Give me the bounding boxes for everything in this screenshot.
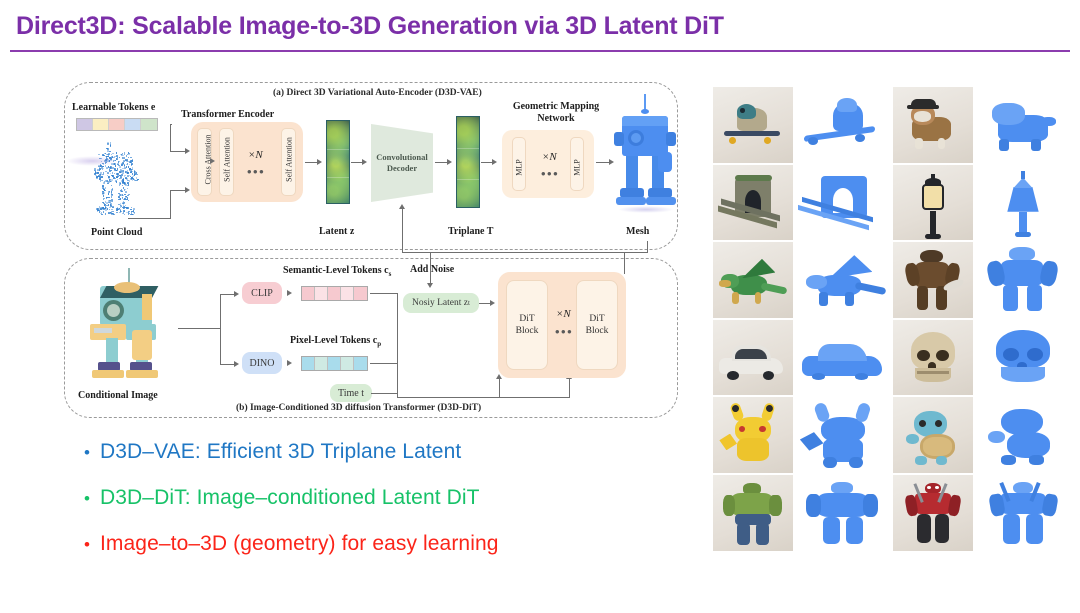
white-sedan-car-mesh: [794, 319, 892, 397]
list-item: • Image–to–3D (geometry) for easy learni…: [84, 532, 684, 556]
gmn-line1: Geometric Mapping Network: [513, 101, 599, 124]
squirtle-figure: [893, 397, 973, 473]
learnable-tokens-label: Learnable Tokens e: [72, 102, 155, 113]
arrow-icon: [447, 159, 452, 165]
pixel-token-sequence: [301, 356, 368, 371]
semantic-tokens-text: Semantic-Level Tokens c: [283, 265, 389, 276]
deadpool-figure: [893, 475, 973, 551]
decoder-line1: Convolutional: [376, 152, 428, 162]
transformer-encoder-block: Cross Attention Self Attention ×N ••• Se…: [191, 122, 303, 202]
werewolf-mesh: [974, 241, 1072, 319]
connector: [220, 294, 221, 364]
green-dragon-mesh: [794, 241, 892, 319]
white-sedan-car: [713, 320, 793, 396]
connector: [371, 393, 398, 394]
connector: [596, 162, 610, 163]
geometric-mapping-network-label: Geometric Mapping Network: [510, 101, 602, 125]
arrow-icon: [185, 148, 190, 154]
arrow-icon: [362, 159, 367, 165]
connector: [170, 124, 172, 125]
clip-encoder-block: CLIP: [242, 282, 282, 304]
ellipsis: •••: [555, 330, 573, 334]
repeat-n-label: ×N: [556, 308, 571, 320]
repeat-n-label: ×N: [542, 151, 557, 163]
output-mesh-robot: [614, 94, 680, 218]
connector: [569, 378, 570, 398]
mlp-label-last: MLP: [573, 154, 582, 182]
arrow-icon: [234, 361, 239, 367]
arrow-icon: [490, 300, 495, 306]
architecture-figure: (a) Direct 3D Variational Auto-Encoder (…: [58, 78, 708, 423]
bullet-marker: •: [84, 444, 100, 461]
point-cloud-visual: [92, 140, 162, 228]
bulldog-with-hat: [893, 87, 973, 163]
repeat-n-label: ×N: [248, 149, 263, 161]
learnable-tokens-strip: [76, 118, 158, 131]
connector: [402, 208, 403, 253]
lizard-on-skateboard: [713, 87, 793, 163]
arrow-icon: [427, 283, 433, 288]
self-attention-label-last: Self Attention: [285, 132, 294, 188]
conditional-image-label: Conditional Image: [78, 390, 158, 401]
panel-a-caption: (a) Direct 3D Variational Auto-Encoder (…: [273, 88, 482, 98]
mlp-label: MLP: [515, 154, 524, 182]
bullet-text-vae: D3D–VAE: Efficient 3D Triplane Latent: [100, 440, 461, 464]
ellipsis: •••: [541, 172, 559, 176]
connector: [370, 293, 398, 294]
geometric-mapping-network-block: MLP ×N ••• MLP: [502, 130, 594, 198]
hulk-mesh: [794, 474, 892, 552]
arrow-icon: [399, 204, 405, 209]
green-dragon: [713, 242, 793, 318]
connector: [220, 294, 235, 295]
bullet-list: • D3D–VAE: Efficient 3D Triplane Latent …: [84, 440, 684, 578]
arrow-icon: [210, 158, 215, 164]
bullet-text-dit: D3D–DiT: Image–conditioned Latent DiT: [100, 486, 480, 510]
connector: [397, 293, 398, 398]
decoder-line2: Decoder: [387, 163, 417, 173]
connector: [397, 397, 570, 398]
bullet-marker: •: [84, 490, 100, 507]
connector: [499, 378, 500, 398]
arrow-icon: [492, 159, 497, 165]
list-item: • D3D–DiT: Image–conditioned Latent DiT: [84, 486, 684, 510]
dit-stack: DiTBlock ×N ••• DiTBlock: [498, 272, 626, 378]
add-noise-label: Add Noise: [410, 264, 454, 275]
bullet-text-image-to-3d: Image–to–3D (geometry) for easy learning: [100, 532, 499, 556]
latent-z-label: Latent z: [319, 226, 354, 237]
page-title: Direct3D: Scalable Image-to-3D Generatio…: [16, 12, 724, 41]
semantic-token-sequence: [301, 286, 368, 301]
point-cloud-label: Point Cloud: [91, 227, 142, 238]
arrow-icon: [287, 290, 292, 296]
squirtle-mesh: [974, 396, 1072, 474]
convolutional-decoder-block: Convolutional Decoder: [371, 124, 433, 202]
semantic-tokens-label: Semantic-Level Tokens cs: [283, 265, 391, 278]
dino-encoder-block: DINO: [242, 352, 282, 374]
connector: [128, 218, 170, 219]
connector: [170, 151, 186, 152]
connector: [402, 252, 648, 253]
connector: [170, 190, 171, 219]
street-lamp: [893, 165, 973, 241]
connector: [170, 190, 186, 191]
connector: [370, 363, 398, 364]
list-item: • D3D–VAE: Efficient 3D Triplane Latent: [84, 440, 684, 464]
pikachu-figure: [713, 397, 793, 473]
dit-block-line1: DiT: [519, 314, 534, 324]
connector: [624, 252, 625, 274]
transformer-encoder-label: Transformer Encoder: [181, 109, 274, 120]
street-lamp-mesh: [974, 164, 1072, 242]
pixel-tokens-subscript: p: [377, 340, 381, 348]
connector: [220, 364, 235, 365]
dit-block-line2: Block: [586, 326, 609, 336]
mesh-label: Mesh: [626, 226, 649, 237]
human-skull-mesh: [974, 319, 1072, 397]
human-skull: [893, 320, 973, 396]
dit-block-last: DiTBlock: [576, 280, 618, 370]
noisy-latent-text: Nosiy Latent z: [412, 298, 468, 308]
connector: [170, 124, 171, 152]
arrow-icon: [185, 187, 190, 193]
conditional-image-robot: [80, 268, 180, 386]
noisy-latent-subscript: t: [468, 299, 470, 307]
pikachu-mesh: [794, 396, 892, 474]
triplane-t-label: Triplane T: [448, 226, 493, 237]
self-attention-label: Self Attention: [223, 132, 232, 188]
stone-ruin-archway-mesh: [794, 164, 892, 242]
connector: [430, 252, 431, 284]
deadpool-mesh: [974, 474, 1072, 552]
arrow-icon: [287, 360, 292, 366]
ellipsis: •••: [247, 170, 265, 174]
results-gallery: [712, 86, 1072, 552]
dit-block-line2: Block: [516, 326, 539, 336]
arrow-icon: [234, 291, 239, 297]
point-cloud-shadow: [66, 156, 118, 166]
semantic-tokens-subscript: s: [389, 270, 392, 278]
connector: [178, 328, 220, 329]
latent-feature-map: [326, 120, 350, 204]
panel-b-caption: (b) Image-Conditioned 3D diffusion Trans…: [236, 403, 481, 413]
dit-block-line1: DiT: [589, 314, 604, 324]
title-divider: [10, 50, 1070, 52]
bullet-marker: •: [84, 536, 100, 553]
triplane-feature-map: [456, 116, 480, 208]
pixel-tokens-label: Pixel-Level Tokens cp: [290, 335, 381, 348]
dit-block-first: DiTBlock: [506, 280, 548, 370]
lizard-on-skateboard-mesh: [794, 86, 892, 164]
werewolf-figure: [893, 242, 973, 318]
bulldog-mesh: [974, 86, 1072, 164]
pixel-tokens-text: Pixel-Level Tokens c: [290, 335, 377, 346]
stone-ruin-archway: [713, 165, 793, 241]
noisy-latent-block: Nosiy Latent zt: [403, 293, 479, 313]
hulk-figure: [713, 475, 793, 551]
time-step-block: Time t: [330, 384, 372, 402]
arrow-icon: [317, 159, 322, 165]
